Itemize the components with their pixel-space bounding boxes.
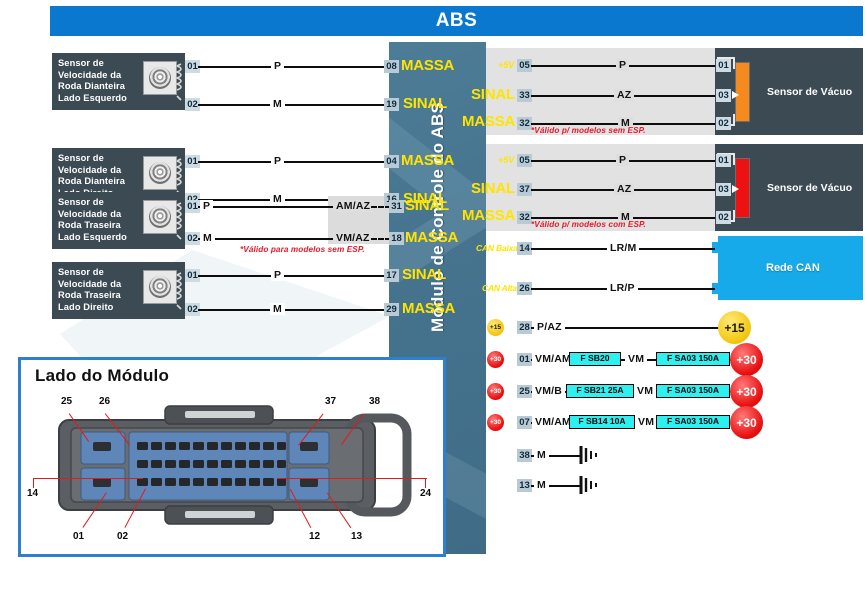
vacuum2-ecu-pin-37: 37	[517, 183, 532, 196]
device-name: Sensor de Vácuo	[767, 86, 852, 98]
power-badge-30: +30	[487, 414, 504, 431]
wire-color-label: P	[616, 154, 629, 166]
can-ecu-pin-26: 26	[517, 282, 532, 295]
wheel-speed-sensor-icon	[143, 270, 177, 304]
can-func-alta: CAN Alta	[482, 283, 517, 293]
wire-color-label: VM	[625, 353, 647, 365]
sensor-coil-icon	[175, 62, 185, 104]
ground-symbol-13	[578, 474, 602, 501]
abs-wiring-diagram: ABS Sensor de Velocidade da Roda Diantei…	[0, 0, 865, 595]
callout-13: 13	[351, 531, 362, 542]
can-ecu-pin-14: 14	[517, 242, 532, 255]
wire-color-label: P/AZ	[534, 321, 565, 333]
callout-12: 12	[309, 531, 320, 542]
wire-s3-m	[198, 238, 333, 240]
inset-title: Lado do Módulo	[35, 366, 169, 386]
power-ecu-pin-25: 25	[517, 385, 532, 398]
wire-color-label: VM/AM	[532, 353, 574, 365]
wire-dash-s3-p	[371, 206, 391, 208]
vacuum1-ecu-pin-32: 32	[517, 117, 532, 130]
wire-color-label: P	[616, 59, 629, 71]
vacuum2-arrow-icon	[732, 185, 739, 193]
power-ecu-pin-01: 01	[517, 353, 532, 366]
callout-26: 26	[99, 396, 110, 407]
ecu-pin-08: 08	[384, 60, 399, 73]
wire-color-label: M	[200, 232, 215, 244]
ecu-func-label: MASSA	[401, 152, 454, 169]
wire-color-label: P	[271, 60, 284, 72]
wire-color-label: M	[534, 449, 549, 461]
note-sem-esp-rear: *Válido para modelos sem ESP.	[240, 245, 365, 254]
power-ecu-pin-28: 28	[517, 321, 532, 334]
wire-s1-p	[198, 66, 393, 68]
wire-color-label: M	[270, 98, 285, 110]
ecu-func-label: SINAL	[403, 95, 447, 112]
vacuum1-ecu-pin-05: 05	[517, 59, 532, 72]
sensor-label: Sensor de Velocidade da Roda Traseira La…	[58, 267, 121, 313]
vacuum2-func-sinal: SINAL	[471, 180, 515, 197]
wire-color-label: LR/P	[607, 282, 638, 294]
wire-s2-p	[198, 161, 393, 163]
vacuum2-ecu-pin-32: 32	[517, 211, 532, 224]
ecu-pin-04: 04	[384, 155, 399, 168]
can-func-baixa: CAN Baixa	[476, 243, 518, 253]
wire-color-label: LR/M	[607, 242, 639, 254]
wire-alt-color-label: AM/AZ	[333, 200, 373, 212]
terminal-30-1: +30	[730, 343, 763, 376]
ground-symbol-38	[578, 444, 602, 471]
wire-dash-s3-m	[371, 238, 391, 240]
wire-color-label: M	[270, 303, 285, 315]
fuse-sb20: F SB20	[569, 352, 621, 366]
ecu-func-label: SINAL	[405, 197, 449, 214]
device-name: Rede CAN	[766, 262, 820, 274]
callout-14: 14	[27, 488, 38, 499]
wheel-speed-sensor-icon	[143, 200, 177, 234]
wire-color-label: VM	[634, 385, 656, 397]
wire-color-label: VM	[635, 416, 657, 428]
callout-37: 37	[325, 396, 336, 407]
power-badge-15: +15	[487, 319, 504, 336]
connector-inset-panel: Lado do Módulo	[18, 357, 446, 557]
ecu-pin-29: 29	[384, 303, 399, 316]
can-network-box: Rede CAN	[718, 236, 863, 300]
ecu-func-label: SINAL	[402, 266, 446, 283]
vacuum1-func-5v: +5V	[498, 60, 514, 70]
wire-color-label: AZ	[614, 183, 634, 195]
vacuum2-dev-pin-01: 01	[716, 154, 731, 167]
vacuum1-dev-pin-02: 02	[716, 117, 731, 130]
sensor-box-front-left: Sensor de Velocidade da Roda Dianteira L…	[52, 53, 185, 110]
sensor-label: Sensor de Velocidade da Roda Dianteira L…	[58, 58, 127, 104]
vacuum1-func-massa: MASSA	[462, 113, 515, 130]
wire-s1-m	[198, 104, 393, 106]
callout-tick-24	[425, 478, 426, 488]
ecu-pin-18: 18	[389, 232, 404, 245]
ecu-func-label: MASSA	[405, 229, 458, 246]
diagram-header: ABS	[50, 6, 863, 36]
callout-01: 01	[73, 531, 84, 542]
power-badge-30: +30	[487, 383, 504, 400]
note-com-esp-vac2: *Válido p/ modelos com ESP.	[531, 220, 646, 229]
sensor-label: Sensor de Velocidade da Roda Traseira La…	[58, 197, 127, 243]
ecu-func-label: MASSA	[401, 57, 454, 74]
vacuum1-func-sinal: SINAL	[471, 86, 515, 103]
ground-ecu-pin-13: 13	[517, 479, 532, 492]
sensor-box-rear-left-main: Sensor de Velocidade da Roda Traseira La…	[52, 192, 185, 249]
vacuum2-func-5v: +5V	[498, 155, 514, 165]
callout-line-24	[277, 478, 427, 479]
wire-color-label: VM/B	[532, 385, 565, 397]
fuse-sb21: F SB21 25A	[566, 384, 634, 398]
device-name: Sensor de Vácuo	[767, 182, 852, 194]
terminal-15: +15	[718, 311, 751, 344]
vacuum1-dev-pin-01: 01	[716, 59, 731, 72]
ground-ecu-pin-38: 38	[517, 449, 532, 462]
callout-line-14	[33, 478, 143, 479]
ecu-pin-17: 17	[384, 269, 399, 282]
vacuum1-arrow-icon	[732, 91, 739, 99]
wire-color-label: AZ	[614, 89, 634, 101]
wire-color-label: M	[270, 193, 285, 205]
terminal-30-2: +30	[730, 375, 763, 408]
wheel-speed-sensor-icon	[143, 61, 177, 95]
wire-color-label: P	[200, 200, 213, 212]
ecu-pin-19: 19	[384, 98, 399, 111]
callout-02: 02	[117, 531, 128, 542]
terminal-30-3: +30	[730, 406, 763, 439]
sensor-box-rear-right: Sensor de Velocidade da Roda Traseira La…	[52, 262, 185, 319]
callout-24: 24	[420, 488, 431, 499]
fuse-sa03-2: F SA03 150A	[656, 384, 730, 398]
power-badge-30: +30	[487, 351, 504, 368]
callout-25: 25	[61, 396, 72, 407]
power-ecu-pin-07: 07	[517, 416, 532, 429]
ecu-title: Módulo de Controle do ABS	[428, 22, 448, 412]
vacuum2-ecu-pin-05: 05	[517, 154, 532, 167]
wire-s3-p	[198, 206, 333, 208]
sensor-coil-icon	[175, 271, 185, 313]
ecu-func-label: MASSA	[402, 300, 455, 317]
vacuum2-dev-pin-02: 02	[716, 211, 731, 224]
vacuum1-dev-pin-03: 03	[716, 89, 731, 102]
wire-alt-color-label: VM/AZ	[333, 232, 373, 244]
vacuum2-func-massa: MASSA	[462, 207, 515, 224]
callout-tick-14	[33, 478, 34, 488]
sensor-coil-icon	[175, 201, 185, 243]
fuse-sb14: F SB14 10A	[569, 415, 635, 429]
ecu-pin-31: 31	[389, 200, 404, 213]
vacuum1-ecu-pin-33: 33	[517, 89, 532, 102]
wire-color-label: P	[271, 155, 284, 167]
wire-color-label: M	[534, 479, 549, 491]
wire-color-label: VM/AM	[532, 416, 574, 428]
wire-color-label: P	[271, 269, 284, 281]
wheel-speed-sensor-icon	[143, 156, 177, 190]
fuse-sa03-3: F SA03 150A	[656, 415, 730, 429]
wire-s4-m	[198, 309, 393, 311]
note-sem-esp-vac1: *Válido p/ modelos sem ESP.	[531, 126, 645, 135]
vacuum2-dev-pin-03: 03	[716, 183, 731, 196]
callout-38: 38	[369, 396, 380, 407]
wire-s4-p	[198, 275, 393, 277]
fuse-sa03-1: F SA03 150A	[656, 352, 730, 366]
